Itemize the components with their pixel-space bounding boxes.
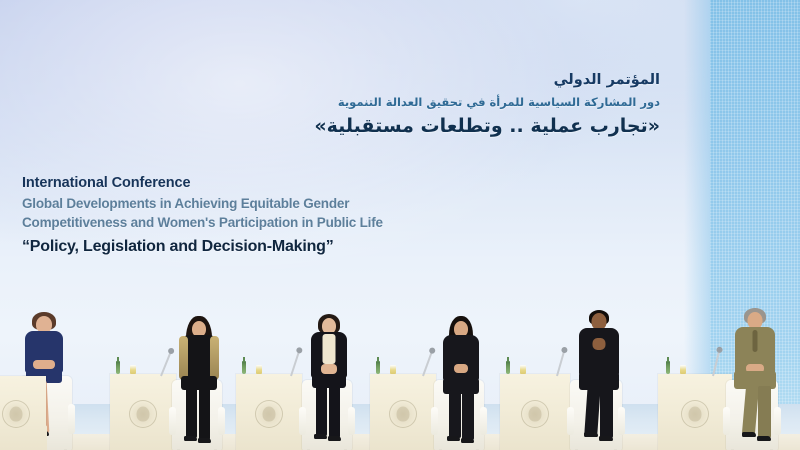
panelist-3-shoe-left: [314, 434, 327, 439]
water-bottle-4: [376, 361, 380, 374]
panelist-4-hands: [454, 364, 468, 373]
panelist-2-jacket-left: [179, 336, 188, 380]
panelist-2-leg-right: [199, 388, 210, 440]
english-branding: International Conference Global Developm…: [22, 173, 383, 259]
panelist-6: [718, 308, 792, 450]
panelist-2: [162, 316, 236, 450]
panelist-3-leg-left: [316, 386, 327, 436]
panelist-3-blouse: [323, 334, 336, 364]
panelist-5-shoe-right: [599, 436, 613, 441]
stage-emblem-5: [521, 400, 549, 428]
english-theme: “Policy, Legislation and Decision-Making…: [22, 234, 383, 260]
panelist-5-leg-right: [600, 386, 613, 438]
drinking-glass-5: [520, 365, 526, 374]
panelist-4-shoe-right: [461, 438, 474, 443]
side-table-1: [0, 376, 46, 450]
water-bottle-6: [666, 361, 670, 374]
panelist-6-shoe-left: [742, 432, 756, 437]
panelist-6-leg-right: [758, 386, 771, 438]
english-subtitle-line-1: Global Developments in Achieving Equitab…: [22, 194, 383, 213]
panelist-2-leg-left: [186, 388, 197, 438]
panelist-1-hands: [33, 360, 55, 369]
side-table-5: [500, 374, 570, 450]
panelist-4: [426, 316, 496, 450]
panelist-5-shoe-left: [584, 432, 598, 437]
panelist-5-leg-left: [584, 386, 600, 435]
panelist-4-torso: [443, 335, 479, 381]
water-bottle-5: [506, 361, 510, 374]
seat-group-5: [490, 290, 660, 450]
stage-emblem-6: [681, 400, 709, 428]
panelist-5-torso: [579, 328, 619, 376]
drinking-glass-3: [256, 365, 262, 374]
panelist-2-jacket-right: [210, 336, 219, 380]
english-subtitle-line-2: Competitiveness and Women's Participatio…: [22, 213, 383, 232]
stage-emblem-1: [2, 400, 30, 428]
panelist-2-shoe-right: [198, 438, 211, 443]
water-bottle-2: [116, 361, 120, 374]
arabic-subtitle: دور المشاركة السياسية للمرأة في تحقيق ال…: [314, 92, 660, 113]
panelist-6-leg-left: [742, 386, 759, 435]
side-table-3: [236, 374, 302, 450]
seat-group-6: [640, 290, 800, 450]
panelist-5-hands: [593, 338, 606, 350]
panelist-6-tie: [753, 330, 758, 352]
panelist-3: [294, 314, 364, 450]
conference-stage-photo: المؤتمر الدولي دور المشاركة السياسية للم…: [0, 0, 800, 450]
stage-emblem-3: [255, 400, 283, 428]
panelist-3-leg-right: [329, 386, 340, 438]
water-bottle-3: [242, 361, 246, 374]
stage-emblem-2: [129, 400, 157, 428]
arabic-branding: المؤتمر الدولي دور المشاركة السياسية للم…: [314, 70, 660, 141]
stage-emblem-4: [389, 400, 417, 428]
panelist-4-shoe-left: [447, 436, 460, 441]
panelist-3-hands: [321, 364, 337, 374]
panelist-2-shoe-left: [184, 436, 197, 441]
panelist-4-leg-right: [462, 390, 474, 440]
panelist-5: [562, 310, 636, 450]
drinking-glass-2: [130, 365, 136, 374]
english-title: International Conference: [22, 173, 383, 194]
panelist-3-shoe-right: [328, 436, 341, 441]
panelist-4-leg-left: [449, 390, 461, 438]
panelist-6-shoe-right: [757, 436, 771, 441]
drinking-glass-4: [390, 365, 396, 374]
arabic-theme: «تجارب عملية .. وتطلعات مستقبلية»: [314, 113, 660, 141]
arabic-title: المؤتمر الدولي: [314, 70, 660, 92]
drinking-glass-6: [680, 365, 686, 374]
